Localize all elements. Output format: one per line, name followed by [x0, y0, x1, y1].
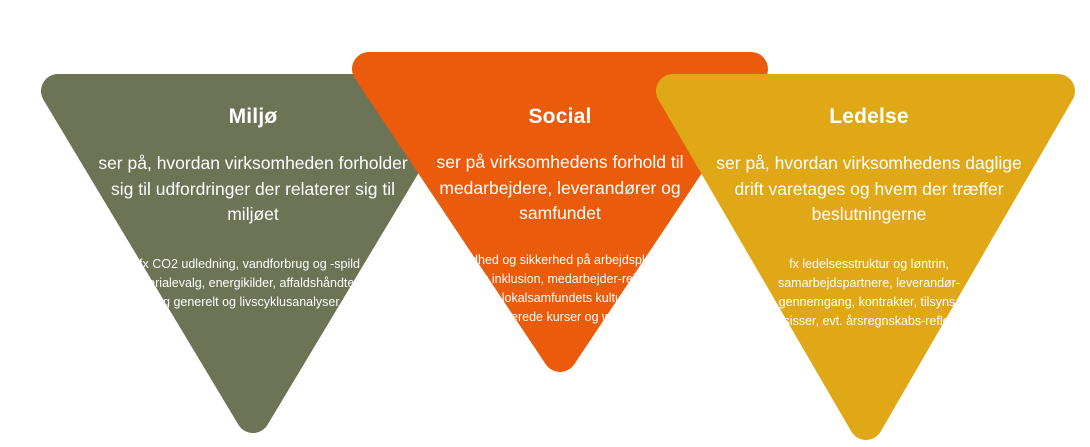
esg-triangle-diagram: Miljø ser på, hvordan virksomheden forho…: [0, 0, 1090, 447]
pillar-ledelse-title: Ledelse: [712, 104, 1026, 129]
pillar-ledelse-desc: ser på, hvordan virksomhedens daglige dr…: [712, 151, 1026, 227]
pillar-ledelse-text: Ledelse ser på, hvordan virksomhedens da…: [712, 104, 1026, 330]
pillar-ledelse: Ledelse ser på, hvordan virksomhedens da…: [0, 0, 1090, 447]
pillar-ledelse-examples: fx ledelsesstruktur og løntrin, samarbej…: [712, 255, 1026, 330]
